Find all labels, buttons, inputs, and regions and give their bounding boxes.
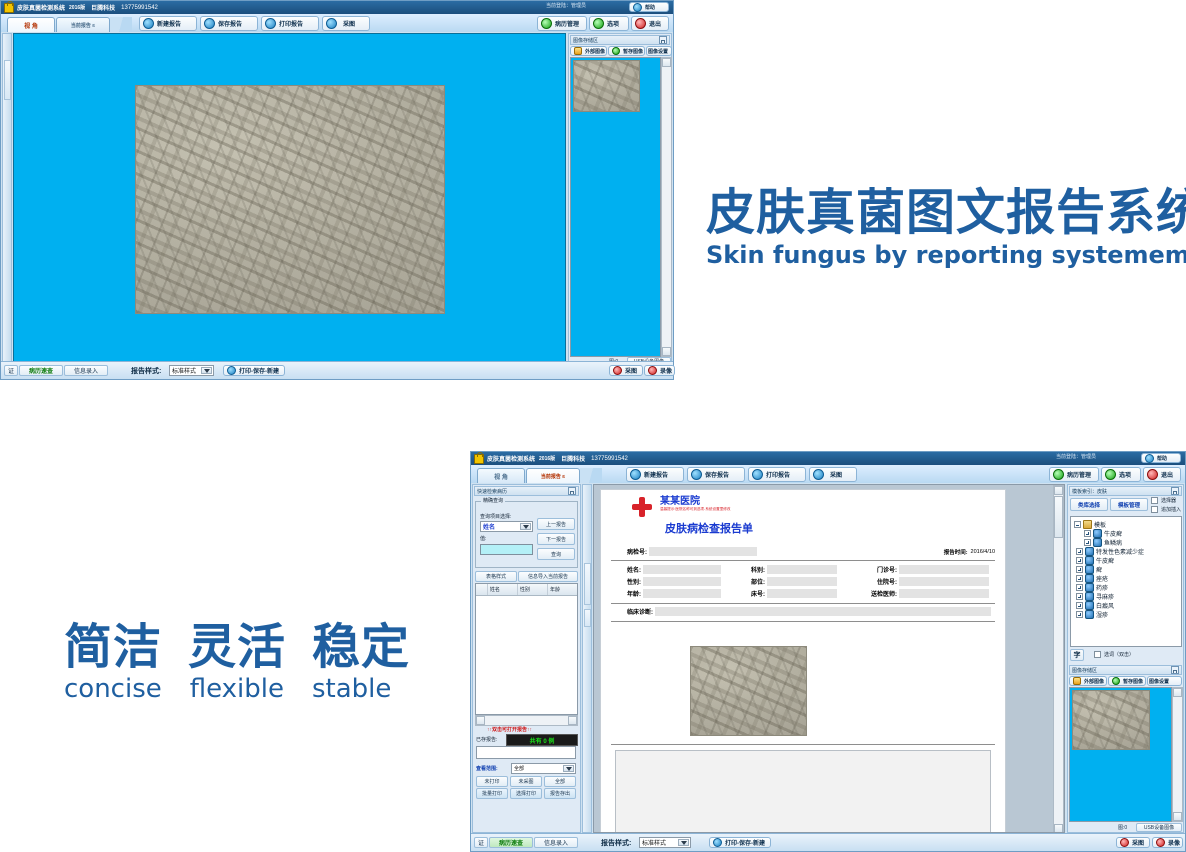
image-store-header-2: 图像存储区: [1069, 665, 1182, 675]
report-style-select[interactable]: 标准样式: [169, 365, 214, 376]
template-tree[interactable]: 模板 牛皮癣 鱼鳞病 特发性色素减少症: [1070, 516, 1182, 647]
image-store-panel: 图像存储区 外部图像 暂存图像 图像设置 图:0: [568, 33, 672, 363]
col-age: 年龄: [548, 584, 577, 595]
capture-icon: [613, 366, 622, 375]
dock-tab-handle[interactable]: [4, 60, 11, 100]
thumbnail-scrollbar[interactable]: [661, 57, 672, 357]
divider-1: [611, 560, 995, 561]
saved-count-display: 共有 0 例: [506, 734, 578, 746]
col-name: 姓名: [488, 584, 518, 595]
temp-image-icon: [612, 47, 620, 55]
list-item[interactable]: 鱼鳞病: [1074, 538, 1178, 547]
word-select-checkbox-label: 选词（双击）: [1104, 651, 1134, 658]
findings-textarea[interactable]: [615, 750, 991, 833]
slogan-cn-3: 稳定: [312, 622, 410, 672]
capture-button-2[interactable]: 采图: [1116, 837, 1150, 848]
print-save-new-button[interactable]: 打印-保存-新建: [223, 365, 285, 376]
tab-current-report-2[interactable]: 当前报告 ≤: [526, 468, 580, 483]
exact-query-group: 精确查询 查询项目选择: 姓名 值: 上一报告 下一报告 查询: [475, 501, 578, 568]
batch-print-button[interactable]: 批量打印: [476, 788, 508, 799]
external-image-icon: [574, 47, 582, 55]
saved-count-value: 共有 0 例: [530, 736, 555, 745]
diagnosis-value[interactable]: [655, 607, 991, 616]
query-button[interactable]: 查询: [537, 548, 575, 560]
outpatient-value[interactable]: [899, 565, 989, 574]
help-button-2[interactable]: 帮助: [1141, 453, 1181, 463]
outpatient-row: 门诊号:: [853, 564, 995, 574]
login-status-2: 当前登陆：管理员: [1056, 453, 1096, 460]
report-style-label: 报告样式:: [131, 366, 161, 376]
new-report-icon: [143, 18, 154, 29]
bed-value[interactable]: [767, 589, 837, 598]
tree-item-label: 鱼鳞病: [1104, 538, 1122, 547]
tree-expand-icon-1[interactable]: [1084, 530, 1091, 537]
selector-checkbox-label: 选择器: [1161, 497, 1176, 504]
options-button-2[interactable]: 选项: [1101, 467, 1141, 482]
list-item[interactable]: 药疹: [1074, 583, 1178, 592]
referring-doctor-value[interactable]: [899, 589, 989, 598]
tab-strip-filler-2: [580, 468, 602, 483]
new-report-button[interactable]: 新建报告: [139, 16, 197, 31]
ribbon-2: 当前登陆：管理员 帮助 视 角 当前报告 ≤ 新建报告 保存报告 打印报告 采图: [471, 465, 1185, 483]
template-item-icon-2: [1093, 538, 1102, 547]
list-item[interactable]: 牛皮癣: [1074, 529, 1178, 538]
double-click-hint: ↑↑双击可打开报告↑↑: [487, 726, 532, 733]
template-item-icon-4: [1085, 556, 1094, 565]
tree-expand-icon-7[interactable]: [1076, 584, 1083, 591]
next-report-button[interactable]: 下一报告: [537, 533, 575, 545]
status-bar: 证 病历速查 信息录入 报告样式: 标准样式 打印-保存-新建 采图 录像: [1, 361, 673, 379]
tree-expand-icon-8[interactable]: [1076, 593, 1083, 600]
template-item-icon-7: [1085, 583, 1094, 592]
print-report-icon: [265, 18, 276, 29]
patient-age-label: 年龄:: [611, 589, 641, 598]
tree-root[interactable]: 模板: [1074, 520, 1178, 529]
print-report-button[interactable]: 打印报告: [261, 16, 319, 31]
window-version-2: 2016版: [539, 455, 555, 462]
select-print-button[interactable]: 选择打印: [510, 788, 542, 799]
image-thumbnail-list[interactable]: [570, 57, 661, 357]
library-select-button[interactable]: 类库选择: [1070, 498, 1108, 511]
saved-report-label: 已存报告:: [476, 736, 497, 743]
word-select-checkbox-box[interactable]: [1094, 651, 1101, 658]
template-panel-header: 模板索引：皮肤: [1069, 486, 1182, 496]
value-label: 值:: [480, 535, 486, 542]
external-image-icon-2: [1073, 677, 1081, 685]
hospital-name: 某某医院: [660, 496, 730, 507]
site-row: 部位:: [735, 576, 845, 586]
inpatient-label: 住院号:: [853, 577, 897, 586]
diagnosis-row: 临床诊断:: [611, 606, 995, 617]
tree-expand-icon-2[interactable]: [1084, 539, 1091, 546]
divider-3: [611, 621, 995, 622]
record-button[interactable]: 录像: [644, 365, 675, 376]
image-settings-button-2[interactable]: 图像设置: [1147, 676, 1182, 686]
col-gender: 性别: [518, 584, 548, 595]
login-status: 当前登陆：管理员: [546, 2, 586, 9]
records-icon: [541, 18, 552, 29]
template-panel: 模板索引：皮肤 类库选择 模板管理 选择器 追加插入: [1067, 484, 1184, 833]
tree-item-label: 白癜风: [1096, 601, 1114, 610]
append-insert-checkbox[interactable]: 追加插入: [1151, 506, 1181, 513]
outpatient-label: 门诊号:: [853, 565, 897, 574]
temp-image-button[interactable]: 暂存图像: [608, 46, 645, 56]
capture-image-icon-2: [813, 469, 824, 480]
tree-expand-icon[interactable]: [1074, 521, 1081, 528]
help-button[interactable]: 帮助: [629, 2, 669, 12]
thumbnail-image[interactable]: [573, 60, 640, 112]
list-item[interactable]: 痤疮: [1074, 574, 1178, 583]
temp-image-icon-2: [1112, 677, 1120, 685]
template-item-icon-10: [1085, 610, 1094, 619]
tree-expand-icon-5[interactable]: [1076, 566, 1083, 573]
patient-field-block: 姓名: 性别: 年龄: 科别:: [611, 564, 995, 600]
save-report-icon-2: [691, 469, 702, 480]
panel-collapse-icon-2[interactable]: [568, 487, 576, 495]
divider-2: [611, 603, 995, 604]
window-body: 图像存储区 外部图像 暂存图像 图像设置 图:0: [1, 32, 673, 364]
tree-expand-icon-10[interactable]: [1076, 611, 1083, 618]
panel-collapse-icon[interactable]: [659, 36, 667, 44]
bed-row: 床号:: [735, 588, 845, 598]
slogan-en-3: stable: [312, 675, 391, 703]
records-management-button[interactable]: 病历管理: [537, 16, 587, 31]
quick-search-header: 快速检索病历: [474, 486, 579, 496]
brand-title-block: 皮肤真菌图文报告系统 Skin fungus by reporting syst…: [706, 186, 1176, 268]
print-save-new-icon-2: [713, 838, 722, 847]
report-style-label-2: 报告样式:: [601, 838, 631, 848]
window-body-2: 快速检索病历 精确查询 查询项目选择: 姓名 值: 上一报告 下一报告: [471, 483, 1185, 834]
tree-item-label: 药疹: [1096, 583, 1108, 592]
middle-dock-strip[interactable]: [582, 484, 592, 833]
exit-icon-2: [1147, 469, 1158, 480]
results-grid-header: 姓名 性别 年龄: [476, 584, 577, 596]
dept-label: 科别:: [735, 565, 765, 574]
append-insert-checkbox-label: 追加插入: [1161, 506, 1181, 513]
help-icon-2: [1145, 454, 1154, 463]
records-management-button-2[interactable]: 病历管理: [1049, 467, 1099, 482]
scroll-down-arrow[interactable]: [662, 347, 671, 356]
tab-current-report[interactable]: 当前报告 ≤: [56, 17, 110, 32]
field-select[interactable]: 姓名: [480, 521, 533, 532]
list-item[interactable]: 特发性色素减少症: [1074, 547, 1178, 556]
referring-doctor-label: 送检医师:: [853, 589, 897, 598]
slogan-cn-1: 简洁: [64, 622, 162, 672]
view-range-select[interactable]: 全部: [511, 763, 576, 774]
tree-expand-icon-9[interactable]: [1076, 602, 1083, 609]
report-scroll-up-arrow[interactable]: [1054, 486, 1063, 495]
exam-id-value[interactable]: [649, 547, 757, 556]
main-window-top: 皮肤真菌检测系统 2016版 巨腾科技 13775991542 当前登陆：管理员…: [0, 0, 674, 380]
record-button-2[interactable]: 录像: [1152, 837, 1183, 848]
list-item[interactable]: 癣: [1074, 565, 1178, 574]
report-style-select-2[interactable]: 标准样式: [639, 837, 691, 848]
view-range-label: 查看范围:: [476, 765, 498, 772]
tree-item-label: 湿疹: [1096, 610, 1108, 619]
hospital-note: 温馨提示:医院名称可到选项-系统设置里修改: [660, 507, 730, 512]
selector-checkbox[interactable]: 选择器: [1151, 497, 1176, 504]
tree-expand-icon-3[interactable]: [1076, 548, 1083, 555]
image-store-header: 图像存储区: [570, 35, 670, 45]
panel-collapse-icon-3[interactable]: [1171, 487, 1179, 495]
brand-title-en: Skin fungus by reporting systemem: [706, 242, 1176, 268]
site-label: 部位:: [735, 577, 765, 586]
cert-button[interactable]: 证: [4, 365, 18, 376]
dock-tab-handle-2[interactable]: [584, 563, 591, 605]
site-value[interactable]: [767, 577, 837, 586]
image-count-label-2: 图:0: [1118, 824, 1127, 831]
records-icon-2: [1053, 469, 1064, 480]
usb-device-image-button-2[interactable]: USB设备图像: [1136, 823, 1182, 832]
exact-query-caption: 精确查询: [481, 497, 505, 504]
print-report-button-2[interactable]: 打印报告: [748, 467, 806, 482]
window-phone: 13775991542: [121, 5, 158, 11]
tree-expand-icon-6[interactable]: [1076, 575, 1083, 582]
status-bar-2: 证 病历速查 信息录入 报告样式: 标准样式 打印-保存-新建 采图 录像: [471, 833, 1185, 851]
dept-row: 科别:: [735, 564, 845, 574]
thumbnail-image-2[interactable]: [1072, 690, 1150, 750]
inpatient-value[interactable]: [899, 577, 989, 586]
record-icon: [648, 366, 657, 375]
chevron-down-icon[interactable]: [201, 367, 212, 374]
report-scroll-thumb[interactable]: [1054, 496, 1063, 538]
patient-name-label: 姓名:: [611, 565, 641, 574]
word-button[interactable]: 字: [1070, 649, 1084, 661]
chevron-down-icon-3[interactable]: [563, 765, 574, 772]
referring-doctor-row: 送检医师:: [853, 588, 995, 598]
report-id-row: 病检号: 报告时间: 2016/4/10: [611, 546, 995, 557]
tree-item-label: 痤疮: [1096, 574, 1108, 583]
patient-name-row: 姓名:: [611, 564, 731, 574]
capture-image-icon: [326, 18, 337, 29]
uncaptured-filter-button[interactable]: 未采图: [510, 776, 542, 787]
scroll-right-arrow[interactable]: [568, 716, 577, 725]
scroll-up-arrow-2[interactable]: [1173, 688, 1182, 697]
diagnosis-label: 临床诊断:: [611, 607, 653, 616]
new-report-button-2[interactable]: 新建报告: [626, 467, 684, 482]
template-tree-content: 模板 牛皮癣 鱼鳞病 特发性色素减少症: [1074, 520, 1178, 619]
window-company-2: 巨腾科技: [561, 454, 585, 463]
tab-strip-filler: [110, 17, 132, 32]
list-item[interactable]: 牛皮癣: [1074, 556, 1178, 565]
lock-icon: [4, 3, 14, 13]
microscope-image: [135, 85, 445, 314]
live-video-area[interactable]: [13, 33, 566, 362]
quick-search-button[interactable]: 病历速查: [19, 365, 63, 376]
print-save-new-button-2[interactable]: 打印-保存-新建: [709, 837, 771, 848]
exit-button-2[interactable]: 退出: [1143, 467, 1181, 482]
folder-icon: [1083, 520, 1092, 529]
save-report-button-2[interactable]: 保存报告: [687, 467, 745, 482]
template-item-icon-9: [1085, 601, 1094, 610]
import-to-report-button[interactable]: 信息导入当前报告: [518, 571, 578, 582]
capture-icon-2: [1120, 838, 1129, 847]
list-item[interactable]: 白癜风: [1074, 601, 1178, 610]
save-report-button[interactable]: 保存报告: [200, 16, 258, 31]
capture-button[interactable]: 采图: [609, 365, 643, 376]
bed-label: 床号:: [735, 589, 765, 598]
quick-search-button-2[interactable]: 病历速查: [489, 837, 533, 848]
report-doc-title: 皮肤病检查报告单: [665, 520, 753, 536]
list-item[interactable]: 寻麻疹: [1074, 592, 1178, 601]
scroll-down-arrow-2[interactable]: [1173, 812, 1182, 821]
quick-search-panel: 快速检索病历 精确查询 查询项目选择: 姓名 值: 上一报告 下一报告: [472, 484, 581, 833]
record-icon-2: [1156, 838, 1165, 847]
divider-4: [611, 744, 995, 745]
report-header: 某某医院 温馨提示:医院名称可到选项-系统设置里修改: [631, 496, 730, 518]
unprinted-filter-button[interactable]: 未打印: [476, 776, 508, 787]
report-page[interactable]: 某某医院 温馨提示:医院名称可到选项-系统设置里修改 皮肤病检查报告单 病检号:…: [600, 489, 1006, 833]
thumbnail-scrollbar-2[interactable]: [1172, 687, 1183, 822]
saved-report-input[interactable]: [476, 746, 576, 759]
info-entry-button[interactable]: 信息录入: [64, 365, 108, 376]
value-input[interactable]: [480, 544, 533, 555]
exam-id-label: 病检号:: [611, 547, 647, 556]
window-company: 巨腾科技: [91, 3, 115, 12]
panel-collapse-icon-4[interactable]: [1171, 666, 1179, 674]
prev-report-button[interactable]: 上一报告: [537, 518, 575, 530]
scroll-up-arrow[interactable]: [662, 58, 671, 67]
patient-name-value[interactable]: [643, 565, 721, 574]
hospital-cross-icon: [631, 496, 653, 518]
template-item-icon-6: [1085, 574, 1094, 583]
tree-item-label: 牛皮癣: [1096, 556, 1114, 565]
selector-checkbox-box[interactable]: [1151, 497, 1158, 504]
external-image-button-2[interactable]: 外部图像: [1069, 676, 1107, 686]
patient-gender-label: 性别:: [611, 577, 641, 586]
brand-title-cn: 皮肤真菌图文报告系统: [706, 186, 1176, 240]
image-settings-button[interactable]: 图像设置: [646, 46, 672, 56]
tree-expand-icon-4[interactable]: [1076, 557, 1083, 564]
template-item-icon-5: [1085, 565, 1094, 574]
ribbon: 当前登陆：管理员 帮助 视 角 当前报告 ≤ 新建报告 保存报告 打印报告 采图: [1, 14, 673, 32]
temp-image-button-2[interactable]: 暂存图像: [1108, 676, 1146, 686]
report-time-value: 2016/4/10: [971, 549, 995, 555]
list-item[interactable]: 湿疹: [1074, 610, 1178, 619]
options-icon: [593, 18, 604, 29]
capture-image-button-2[interactable]: 采图: [809, 467, 857, 482]
tree-item-label: 癣: [1096, 565, 1102, 574]
slogan-en-1: concise: [64, 675, 162, 703]
patient-age-value[interactable]: [643, 589, 721, 598]
lock-icon-2: [474, 454, 484, 464]
window-phone-2: 13775991542: [591, 456, 628, 462]
slogan-en-2: flexible: [190, 675, 284, 703]
template-item-icon-8: [1085, 592, 1094, 601]
new-report-icon-2: [630, 469, 641, 480]
grid-corner: [476, 584, 488, 595]
template-manage-button[interactable]: 模板管理: [1110, 498, 1148, 511]
report-document-area[interactable]: 某某医院 温馨提示:医院名称可到选项-系统设置里修改 皮肤病检查报告单 病检号:…: [593, 484, 1065, 833]
chevron-down-icon-4[interactable]: [678, 839, 689, 846]
help-icon: [633, 3, 642, 12]
chevron-down-icon-2[interactable]: [520, 523, 531, 530]
exit-icon: [635, 18, 646, 29]
scroll-left-arrow[interactable]: [476, 716, 485, 725]
patient-age-row: 年龄:: [611, 588, 731, 598]
window-version: 2016版: [69, 4, 85, 11]
image-thumbnail-list-2[interactable]: [1069, 687, 1172, 822]
template-item-icon-3: [1085, 547, 1094, 556]
patient-gender-row: 性别:: [611, 576, 731, 586]
search-results-grid[interactable]: 姓名 性别 年龄: [475, 583, 578, 715]
results-grid-hscroll[interactable]: [475, 715, 578, 726]
cert-button-2[interactable]: 证: [474, 837, 488, 848]
brand-slogan-block: 简洁 灵活 稳定 concise flexible stable: [64, 622, 464, 703]
field-select-label: 查询项目选择:: [480, 513, 511, 520]
report-scroll-down-arrow[interactable]: [1054, 824, 1063, 833]
tab-view[interactable]: 视 角: [7, 17, 55, 32]
print-report-icon-2: [752, 469, 763, 480]
tab-view-2[interactable]: 视 角: [477, 468, 525, 483]
external-image-button[interactable]: 外部图像: [570, 46, 607, 56]
slogan-cn-2: 灵活: [188, 622, 286, 672]
report-microscope-image[interactable]: [690, 646, 807, 736]
report-vscroll[interactable]: [1053, 485, 1064, 833]
info-entry-button-2[interactable]: 信息录入: [534, 837, 578, 848]
capture-image-button[interactable]: 采图: [322, 16, 370, 31]
report-time-label: 报告时间:: [944, 548, 968, 556]
dept-value[interactable]: [767, 565, 837, 574]
dock-tab-handle-3[interactable]: [584, 609, 591, 627]
tree-item-label: 寻麻疹: [1096, 592, 1114, 601]
table-style-button[interactable]: 表格样式: [475, 571, 517, 582]
template-item-icon-1: [1093, 529, 1102, 538]
tree-item-label: 牛皮癣: [1104, 529, 1122, 538]
options-icon-2: [1105, 469, 1116, 480]
tree-root-label: 模板: [1094, 520, 1106, 529]
inpatient-row: 住院号:: [853, 576, 995, 586]
exit-button[interactable]: 退出: [631, 16, 669, 31]
save-report-icon: [204, 18, 215, 29]
main-window-bottom: 皮肤真菌检测系统 2016版 巨腾科技 13775991542 当前登陆：管理员…: [470, 451, 1186, 852]
window-title: 皮肤真菌检测系统: [17, 3, 65, 12]
word-select-checkbox[interactable]: 选词（双击）: [1094, 651, 1134, 658]
patient-gender-value[interactable]: [643, 577, 721, 586]
export-report-button[interactable]: 报告存出: [544, 788, 576, 799]
all-filter-button[interactable]: 全部: [544, 776, 576, 787]
left-dock-strip[interactable]: [2, 33, 12, 363]
append-insert-checkbox-box[interactable]: [1151, 506, 1158, 513]
tree-item-label: 特发性色素减少症: [1096, 547, 1144, 556]
print-save-new-icon: [227, 366, 236, 375]
window-title-2: 皮肤真菌检测系统: [487, 454, 535, 463]
options-button[interactable]: 选项: [589, 16, 629, 31]
